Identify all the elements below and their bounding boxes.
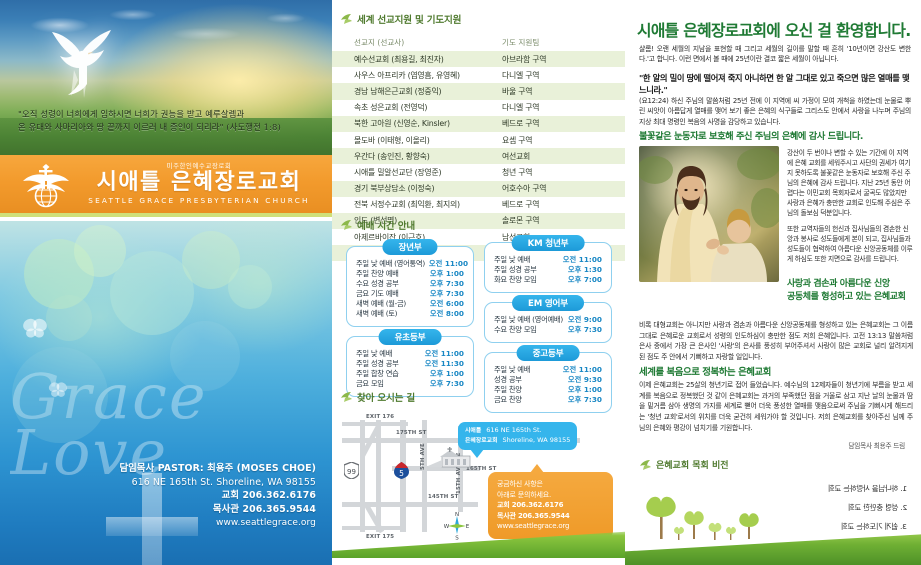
table-row: 몰도바 (이태형, 이올리)요셉 구역 bbox=[332, 132, 625, 148]
info-church-phone: 교회 206.362.6176 bbox=[497, 500, 604, 511]
worship-schedule-row: 금요 기도 예배오후 7:30 bbox=[356, 289, 464, 299]
worship-service-time: 오후 7:30 bbox=[568, 325, 602, 335]
worship-card-title: EM 영어부 bbox=[512, 295, 584, 311]
worship-card: 유초등부주일 낮 예배오전 11:00주일 성경 공부오전 11:30주일 합창… bbox=[346, 336, 474, 397]
heading-gratitude: 불꽃같은 눈동자로 보호해 주신 주님의 은혜에 감사 드립니다. bbox=[639, 128, 921, 142]
worship-cards-grid: 장년부주일 낮 예배 (영어통역)오전 11:00주일 찬양 예배오후 1:00… bbox=[332, 240, 625, 408]
worship-service-label: 주일 합창 연습 bbox=[356, 369, 399, 379]
contact-block: 담임목사 PASTOR: 최용주 (MOSES CHOE) 616 NE 165… bbox=[78, 462, 316, 530]
worship-service-label: 주일 낮 예배 bbox=[494, 365, 530, 375]
vision-section-title: 은혜교회 목회 비전 bbox=[656, 458, 729, 471]
worship-card-title: 중고등부 bbox=[517, 345, 580, 361]
map-info-bubble: 궁금하신 사항은 아래로 문의하세요. 교회 206.362.6176 목사관 … bbox=[488, 472, 613, 539]
logo-text-group: 미주한인예수교장로회 시애틀 은혜장로교회 SEATTLE GRACE PRES… bbox=[74, 161, 324, 205]
directions-section-title: 찾아 오시는 길 bbox=[357, 390, 415, 404]
worship-service-label: 화요 찬양 모임 bbox=[494, 275, 537, 285]
table-row: 예수선교회 (최용길, 최진자)아브라함 구역 bbox=[332, 51, 625, 67]
road-label-exit-175: EXIT 175 bbox=[366, 534, 394, 540]
church-logo-band: 미주한인예수교장로회 시애틀 은혜장로교회 SEATTLE GRACE PRES… bbox=[0, 155, 332, 217]
welcome-title: 시애틀 은혜장로교회에 오신 걸 환영합니다. bbox=[637, 18, 919, 41]
directions-section-header: 찾아 오시는 길 bbox=[340, 390, 625, 404]
worship-service-time: 오전 6:00 bbox=[430, 299, 464, 309]
worship-card: KM 청년부주일 낮 예배오전 11:00주일 성경 공부오후 1:30화요 찬… bbox=[484, 242, 612, 293]
butterfly-icon bbox=[22, 317, 48, 339]
worship-service-label: 주일 낮 예배 bbox=[494, 255, 530, 265]
worship-service-label: 주일 낮 예배 (영어통역) bbox=[356, 259, 425, 269]
worship-service-time: 오전 11:30 bbox=[425, 359, 464, 369]
worship-card: EM 영어부주일 낮 예배 (영어예배)오전 9:00수요 찬양 모임오후 7:… bbox=[484, 302, 612, 343]
prayer-team-cell: 청년 구역 bbox=[496, 167, 621, 178]
worship-service-label: 주일 성경 공부 bbox=[356, 359, 399, 369]
worship-service-label: 수요 찬양 모임 bbox=[494, 325, 537, 335]
worship-service-label: 주일 낮 예배 (영어예배) bbox=[494, 315, 563, 325]
scripture-quote: "한 알의 밀이 땅에 떨어져 죽지 아니하면 한 알 그대로 있고 죽으면 많… bbox=[639, 72, 911, 96]
worship-card-title: 장년부 bbox=[382, 239, 437, 255]
worship-service-time: 오후 1:00 bbox=[430, 269, 464, 279]
dove-globe-cross-emblem bbox=[22, 163, 70, 209]
svg-text:E: E bbox=[466, 524, 470, 530]
worship-service-time: 오전 11:00 bbox=[563, 255, 602, 265]
bubble-address-2: Shoreline, WA 98155 bbox=[503, 436, 571, 445]
prayer-team-cell: 베드로 구역 bbox=[496, 199, 621, 210]
road-vertical-a bbox=[360, 420, 365, 532]
worship-service-time: 오후 7:00 bbox=[568, 275, 602, 285]
worship-section-header: 예배 시간 안내 bbox=[340, 218, 625, 232]
worship-schedule-row: 새벽 예배 (토)오전 8:00 bbox=[356, 309, 464, 319]
bird-icon bbox=[340, 391, 353, 403]
contact-church-phone: 교회 206.362.6176 bbox=[78, 489, 316, 503]
bubble-church-name-1: 시애틀 bbox=[465, 428, 481, 436]
bible-verse-block: "오직 성령이 너희에게 임하시면 너희가 권능을 받고 예루살렘과 온 유대와… bbox=[0, 98, 332, 144]
worship-schedule-row: 수요 성경 공부오후 7:30 bbox=[356, 279, 464, 289]
worship-service-time: 오전 11:00 bbox=[425, 349, 464, 359]
worship-schedule-row: 주일 합창 연습오후 1:00 bbox=[356, 369, 464, 379]
world-gospel-paragraph: 이제 은혜교회는 25살의 청년기로 접어 들었습니다. 예수님의 12제자들이… bbox=[639, 380, 913, 434]
worship-service-time: 오전 11:00 bbox=[429, 259, 468, 269]
bubble-address-1: 616 NE 165th St. bbox=[486, 426, 541, 435]
bird-icon bbox=[340, 219, 353, 231]
heading-community-line-1: 사랑과 겸손과 아름다운 신앙 bbox=[787, 279, 890, 289]
worship-service-time: 오전 9:30 bbox=[568, 375, 602, 385]
table-row: 우간다 (송인진, 황향숙)여선교회 bbox=[332, 148, 625, 164]
worship-service-time: 오전 11:00 bbox=[563, 365, 602, 375]
worship-schedule-row: 금요 모임오후 7:30 bbox=[356, 379, 464, 389]
table-row: 경기 북부상담소 (이정숙)어호수아 구역 bbox=[332, 181, 625, 197]
prayer-team-cell: 바울 구역 bbox=[496, 86, 621, 97]
worship-service-label: 주일 찬양 예배 bbox=[356, 269, 399, 279]
bird-icon bbox=[639, 459, 652, 471]
worship-schedule-row: 주일 낮 예배 (영어통역)오전 11:00 bbox=[356, 259, 464, 269]
bird-icon bbox=[340, 13, 353, 25]
vision-item-label: 1. 하나님을 사랑하는 교회 bbox=[828, 483, 907, 495]
missions-section-header: 세계 선교지원 및 기도지원 bbox=[340, 12, 625, 26]
vision-section-header: 은혜교회 목회 비전 bbox=[639, 458, 729, 471]
worship-service-time: 오후 1:30 bbox=[568, 265, 602, 275]
highway-shield-5-icon: 5 bbox=[394, 462, 409, 479]
jesus-illustration bbox=[639, 146, 779, 282]
worship-service-label: 새벽 예배 (토) bbox=[356, 309, 397, 319]
missions-section-title: 세계 선교지원 및 기도지원 bbox=[357, 12, 461, 26]
worship-service-time: 오전 9:00 bbox=[568, 315, 602, 325]
info-parsonage-phone: 목사관 206.365.9544 bbox=[497, 511, 604, 522]
worship-schedule-row: 새벽 예배 (월-금)오전 6:00 bbox=[356, 299, 464, 309]
flying-dove-icon bbox=[38, 22, 122, 100]
road-label-exit-176: EXIT 176 bbox=[366, 414, 394, 420]
butterfly-icon bbox=[48, 381, 68, 398]
bokeh-circle bbox=[46, 295, 92, 341]
table-row: 북한 고아원 (신영순, Kinsler)베드로 구역 bbox=[332, 116, 625, 132]
left-panel: "오직 성령이 너희에게 임하시면 너희가 권능을 받고 예루살렘과 온 유대와… bbox=[0, 0, 332, 565]
worship-schedule-row: 주일 낮 예배오전 11:00 bbox=[494, 255, 602, 265]
worship-schedule-row: 주일 낮 예배 (영어예배)오전 9:00 bbox=[494, 315, 602, 325]
gratitude-paragraph: 강산이 두 번이나 변할 수 있는 기간에 이 지역에 은혜 교회를 세워주시고… bbox=[787, 148, 913, 218]
table-row: 속초 성은교회 (전영덕)다니엘 구역 bbox=[332, 100, 625, 116]
mission-field-cell: 예수선교회 (최용길, 최진자) bbox=[332, 54, 496, 65]
heart-trees-icon bbox=[633, 491, 769, 543]
svg-text:W: W bbox=[444, 524, 450, 530]
worship-schedule-row: 주일 성경 공부오후 1:30 bbox=[494, 265, 602, 275]
bokeh-circle bbox=[170, 321, 240, 391]
worship-schedule-row: 수요 찬양 모임오후 7:30 bbox=[494, 325, 602, 335]
table-row: 전북 서정수교회 (최익환, 최지의)베드로 구역 bbox=[332, 197, 625, 213]
worship-schedule-row: 주일 낮 예배오전 11:00 bbox=[356, 349, 464, 359]
worship-schedule-row: 주일 낮 예배오전 11:00 bbox=[494, 365, 602, 375]
bokeh-circle bbox=[228, 265, 272, 309]
prayer-team-cell: 요셉 구역 bbox=[496, 135, 621, 146]
logo-korean-name: 시애틀 은혜장로교회 bbox=[74, 171, 324, 194]
prayer-team-cell: 베드로 구역 bbox=[496, 118, 621, 129]
mission-field-cell: 경남 남해은근교회 (정중익) bbox=[332, 86, 496, 97]
col-header-team: 기도 지원팀 bbox=[496, 37, 621, 48]
worship-schedule-row: 화요 찬양 모임오후 7:00 bbox=[494, 275, 602, 285]
bubble-church-name-2: 은혜장로교회 bbox=[465, 438, 498, 446]
worship-service-label: 성경 공부 bbox=[494, 375, 522, 385]
road-vertical-b bbox=[376, 420, 381, 532]
contact-parsonage-phone: 목사관 206.365.9544 bbox=[78, 503, 316, 517]
worship-section-title: 예배 시간 안내 bbox=[357, 218, 415, 232]
worship-service-time: 오후 7:30 bbox=[430, 379, 464, 389]
road-5th-ave bbox=[422, 420, 427, 532]
prayer-team-cell: 여선교회 bbox=[496, 151, 621, 162]
worship-service-label: 금요 모임 bbox=[356, 379, 384, 389]
worship-schedule-row: 주일 찬양 예배오후 1:00 bbox=[356, 269, 464, 279]
svg-text:N: N bbox=[455, 512, 459, 518]
table-row: 사우스 아프리카 (염영흠, 유영혜)다니엘 구역 bbox=[332, 67, 625, 83]
col-header-field: 선교지 (선교사) bbox=[332, 37, 496, 48]
info-line-2: 아래로 문의하세요. bbox=[497, 490, 604, 501]
road-label-145th: 145TH ST bbox=[428, 494, 458, 500]
svg-text:99: 99 bbox=[347, 468, 356, 476]
contact-website[interactable]: www.seattlegrace.org bbox=[78, 517, 316, 530]
heading-community-line-2: 공동체를 형성하고 있는 은혜교회 bbox=[787, 292, 906, 302]
middle-panel: 세계 선교지원 및 기도지원 선교지 (선교사) 기도 지원팀 예수선교회 (최… bbox=[332, 0, 625, 565]
directions-section: 찾아 오시는 길 EXIT 176 175TH bbox=[332, 390, 625, 558]
road-exit-175 bbox=[342, 526, 402, 530]
church-address-bubble: 시애틀 616 NE 165th St. 은혜장로교회 Shoreline, W… bbox=[458, 422, 577, 450]
vision-item-label: 2. 성령 충만한 교회 bbox=[848, 502, 907, 514]
info-website[interactable]: www.seattlegrace.org bbox=[497, 521, 604, 532]
worship-section: 예배 시간 안내 장년부주일 낮 예배 (영어통역)오전 11:00주일 찬양 … bbox=[332, 218, 625, 408]
worship-service-time: 오후 1:00 bbox=[430, 369, 464, 379]
road-label-175th: 175TH ST bbox=[396, 430, 426, 436]
mission-field-cell: 경기 북부상담소 (이정숙) bbox=[332, 183, 496, 194]
worship-card-title: KM 청년부 bbox=[512, 235, 585, 251]
road-label-5th-ave: 5TH AVE bbox=[420, 443, 426, 470]
mission-field-cell: 속초 성은교회 (전영덕) bbox=[332, 102, 496, 113]
missions-column-headers: 선교지 (선교사) 기도 지원팀 bbox=[332, 32, 625, 51]
verse-line-2: 온 유대와 사마리아와 땅 끝까지 이르러 내 증인이 되리라" (사도행전 1… bbox=[18, 121, 324, 134]
logo-english-name: SEATTLE GRACE PRESBYTERIAN CHURCH bbox=[74, 196, 324, 205]
prayer-team-cell: 아브라함 구역 bbox=[496, 54, 621, 65]
highway-shield-99-icon: 99 bbox=[344, 462, 359, 479]
service-paragraph: 또한 교역자들의 헌신과 집사님들의 겸손한 신앙과 봉사로 성도들에게 본이 … bbox=[787, 224, 913, 264]
verse-line-1: "오직 성령이 너희에게 임하시면 너희가 권능을 받고 예루살렘과 bbox=[18, 108, 324, 121]
right-panel: 시애틀 은혜장로교회에 오신 걸 환영합니다. 샬롬! 오랜 세월의 지남을 표… bbox=[625, 0, 921, 565]
mission-field-cell: 북한 고아원 (신영순, Kinsler) bbox=[332, 118, 496, 129]
worship-service-time: 오후 7:30 bbox=[430, 289, 464, 299]
table-row: 시애틀 밀알선교단 (장영준)청년 구역 bbox=[332, 164, 625, 180]
mission-field-cell: 전북 서정수교회 (최익환, 최지의) bbox=[332, 199, 496, 210]
contact-address: 616 NE 165th St. Shoreline, WA 98155 bbox=[78, 476, 316, 490]
worship-service-label: 수요 성경 공부 bbox=[356, 279, 399, 289]
worship-service-label: 새벽 예배 (월-금) bbox=[356, 299, 406, 309]
prayer-team-cell: 다니엘 구역 bbox=[496, 102, 621, 113]
worship-service-label: 주일 낮 예배 bbox=[356, 349, 392, 359]
pastor-signature: 담임목사 최용주 드림 bbox=[848, 440, 905, 450]
scripture-quote-body: (요12:24) 하신 주님의 말씀처럼 25년 전에 이 지역에 씨 가정이 … bbox=[639, 96, 911, 127]
logo-denomination: 미주한인예수교장로회 bbox=[74, 161, 324, 170]
brochure-page: "오직 성령이 너희에게 임하시면 너희가 권능을 받고 예루살렘과 온 유대와… bbox=[0, 0, 921, 565]
mission-field-cell: 사우스 아프리카 (염영흠, 유영혜) bbox=[332, 70, 496, 81]
contact-pastor: 담임목사 PASTOR: 최용주 (MOSES CHOE) bbox=[78, 462, 316, 476]
worship-card: 장년부주일 낮 예배 (영어통역)오전 11:00주일 찬양 예배오후 1:00… bbox=[346, 246, 474, 327]
info-line-1: 궁금하신 사항은 bbox=[497, 479, 604, 490]
worship-schedule-row: 성경 공부오전 9:30 bbox=[494, 375, 602, 385]
heading-community: 사랑과 겸손과 아름다운 신앙 공동체를 형성하고 있는 은혜교회 bbox=[787, 278, 917, 304]
community-paragraph: 비록 대형교회는 아니지만 사랑과 겸손과 아름다운 신앙공동체를 형성하고 있… bbox=[639, 320, 913, 363]
table-row: 경남 남해은근교회 (정중익)바울 구역 bbox=[332, 83, 625, 99]
worship-service-label: 금요 기도 예배 bbox=[356, 289, 399, 299]
worship-card-title: 유초등부 bbox=[379, 329, 442, 345]
worship-service-time: 오전 8:00 bbox=[430, 309, 464, 319]
worship-service-time: 오후 7:30 bbox=[430, 279, 464, 289]
mission-field-cell: 몰도바 (이태형, 이올리) bbox=[332, 135, 496, 146]
mission-field-cell: 우간다 (송인진, 황향숙) bbox=[332, 151, 496, 162]
compass-rose-icon: N E S W bbox=[444, 512, 470, 540]
mission-field-cell: 시애틀 밀알선교단 (장영준) bbox=[332, 167, 496, 178]
worship-schedule-row: 주일 성경 공부오전 11:30 bbox=[356, 359, 464, 369]
welcome-intro-paragraph: 샬롬! 오랜 세월의 지남을 표현할 때 그리고 세월의 길이를 말할 때 흔히… bbox=[639, 44, 911, 65]
prayer-team-cell: 어호수아 구역 bbox=[496, 183, 621, 194]
svg-text:S: S bbox=[455, 536, 459, 541]
heading-world-gospel: 세계를 복음으로 정복하는 은혜교회 bbox=[639, 364, 921, 378]
vision-item-label: 3. 쉽게 기도하는 교회 bbox=[841, 521, 907, 533]
worship-service-label: 주일 성경 공부 bbox=[494, 265, 537, 275]
svg-text:5: 5 bbox=[399, 469, 404, 478]
prayer-team-cell: 다니엘 구역 bbox=[496, 70, 621, 81]
jesus-with-child-photo bbox=[639, 146, 779, 282]
